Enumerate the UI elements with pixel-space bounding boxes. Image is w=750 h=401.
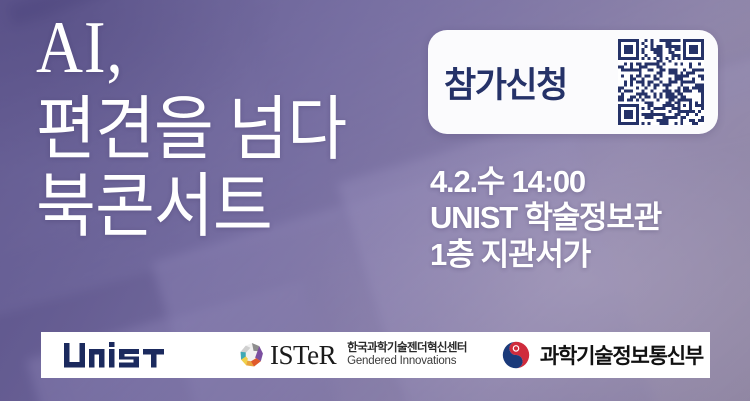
gister-english-name: Gendered Innovations	[347, 355, 467, 368]
headline-line-2: 편견을 넘다	[36, 98, 389, 164]
event-date: 4.2.수 14:00	[430, 164, 661, 200]
event-info: 4.2.수 14:00 UNIST 학술정보관 1층 지관서가	[430, 164, 661, 273]
event-poster: AI, 편견을 넘다 북콘서트 참가신청 4.2.수 14:00 UNIST 학…	[0, 0, 750, 401]
gister-korean-name: 한국과학기술젠더혁신센터	[347, 342, 467, 355]
event-room: 1층 지관서가	[430, 237, 661, 273]
qr-code-icon[interactable]	[618, 39, 704, 125]
gister-wordmark: ISTeR	[270, 342, 336, 369]
gister-logo: ISTeR 한국과학기술젠더혁신센터 Gendered Innovations	[239, 342, 467, 369]
poster-headline: AI, 편견을 넘다 북콘서트	[36, 14, 416, 241]
apply-card[interactable]: 참가신청	[428, 30, 718, 134]
taegeuk-emblem-icon	[501, 340, 531, 370]
apply-button-label: 참가신청	[444, 57, 618, 108]
gister-hexagon-icon	[239, 342, 265, 368]
event-venue: UNIST 학술정보관	[430, 200, 661, 236]
unist-logo	[63, 342, 213, 368]
ministry-name: 과학기술정보통신부	[540, 340, 703, 370]
headline-line-1: AI,	[36, 14, 370, 84]
sponsor-logo-bar: ISTeR 한국과학기술젠더혁신센터 Gendered Innovations …	[41, 332, 710, 378]
headline-line-3: 북콘서트	[36, 175, 389, 241]
ministry-logo: 과학기술정보통신부	[501, 340, 703, 370]
